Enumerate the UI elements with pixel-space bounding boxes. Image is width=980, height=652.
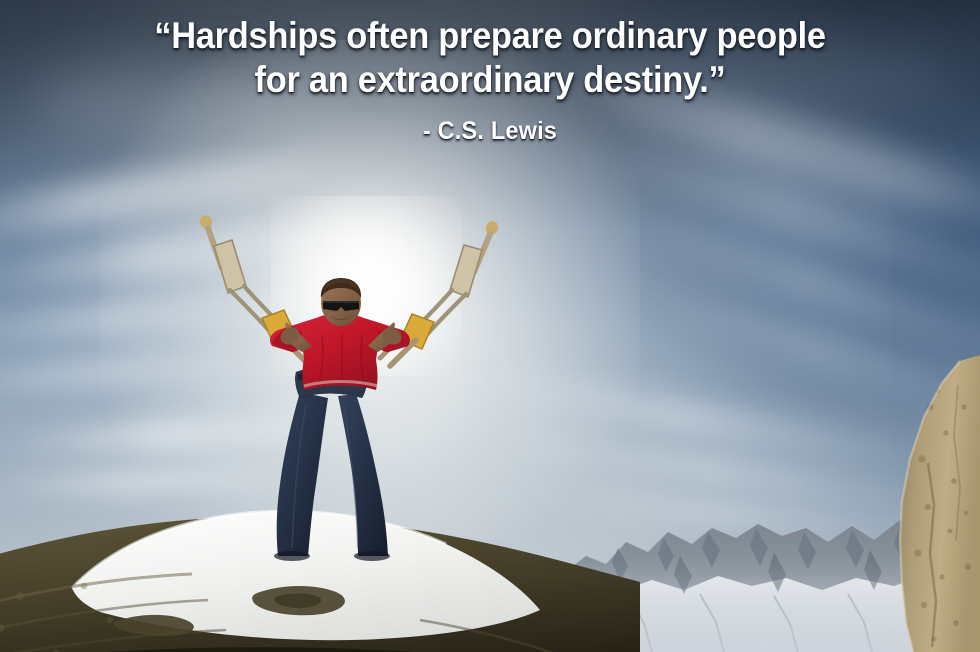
legs — [274, 366, 390, 561]
head — [321, 278, 361, 326]
climber-figure — [0, 0, 980, 652]
quote-image: “Hardships often prepare ordinary people… — [0, 0, 980, 652]
